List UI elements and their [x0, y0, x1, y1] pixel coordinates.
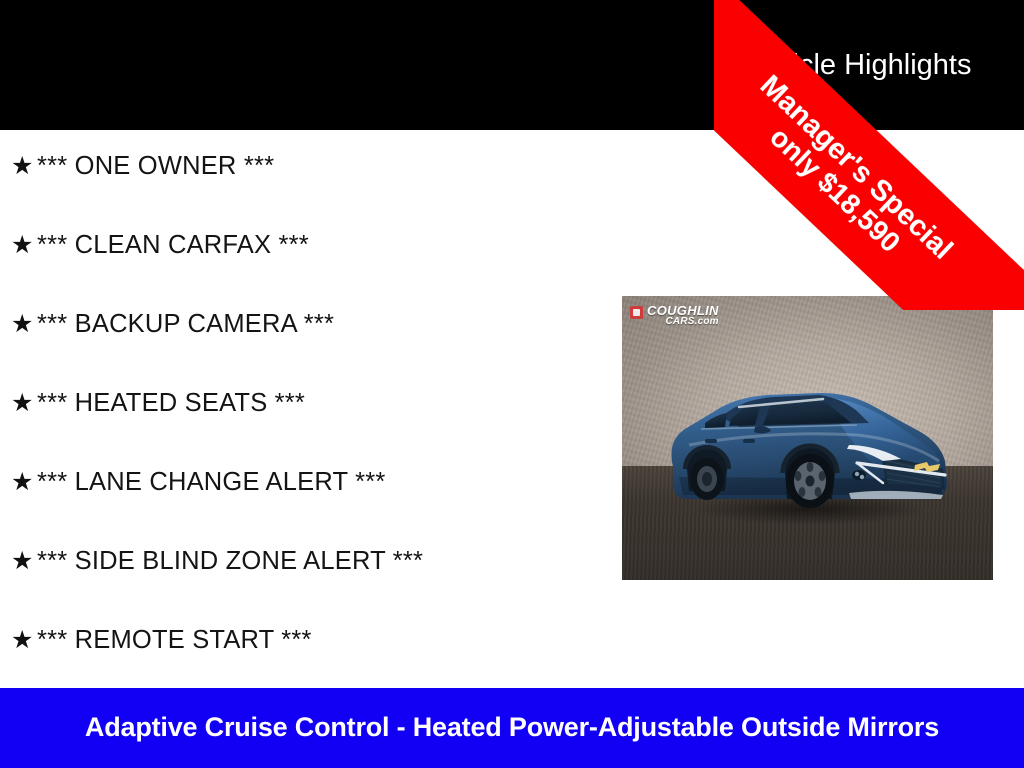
list-item: ★ *** BACKUP CAMERA *** — [0, 310, 610, 389]
list-item: ★ *** CLEAN CARFAX *** — [0, 231, 610, 310]
footer-banner: Adaptive Cruise Control - Heated Power-A… — [0, 688, 1024, 768]
star-icon: ★ — [11, 391, 37, 416]
star-icon: ★ — [11, 233, 37, 258]
coughlin-logo-icon — [630, 306, 643, 319]
header-bar: Vehicle Highlights — [0, 0, 1024, 130]
suv-illustration — [643, 349, 973, 539]
list-item: ★ *** ONE OWNER *** — [0, 152, 610, 231]
star-icon: ★ — [11, 312, 37, 337]
watermark-line-2: CARS.com — [647, 317, 719, 327]
list-item-label: *** LANE CHANGE ALERT *** — [37, 468, 385, 497]
list-item-label: *** BACKUP CAMERA *** — [37, 310, 334, 339]
list-item-label: *** CLEAN CARFAX *** — [37, 231, 309, 260]
list-item: ★ *** LANE CHANGE ALERT *** — [0, 468, 610, 547]
star-icon: ★ — [11, 470, 37, 495]
vehicle-photo: COUGHLIN CARS.com — [622, 296, 993, 580]
list-item: ★ *** SIDE BLIND ZONE ALERT *** — [0, 547, 610, 626]
ribbon-price: only $18,590 — [765, 121, 906, 257]
list-item-label: *** HEATED SEATS *** — [37, 389, 305, 418]
list-item-label: *** REMOTE START *** — [37, 626, 312, 655]
page-title: Vehicle Highlights — [0, 0, 1024, 130]
star-icon: ★ — [11, 628, 37, 653]
footer-banner-text: Adaptive Cruise Control - Heated Power-A… — [85, 709, 939, 746]
list-item-label: *** SIDE BLIND ZONE ALERT *** — [37, 547, 423, 576]
star-icon: ★ — [11, 549, 37, 574]
list-item: ★ *** HEATED SEATS *** — [0, 389, 610, 468]
list-item-label: *** ONE OWNER *** — [37, 152, 274, 181]
dealer-watermark-logo: COUGHLIN CARS.com — [630, 304, 719, 327]
star-icon: ★ — [11, 154, 37, 179]
vehicle-highlights-list: ★ *** ONE OWNER *** ★ *** CLEAN CARFAX *… — [0, 130, 610, 705]
